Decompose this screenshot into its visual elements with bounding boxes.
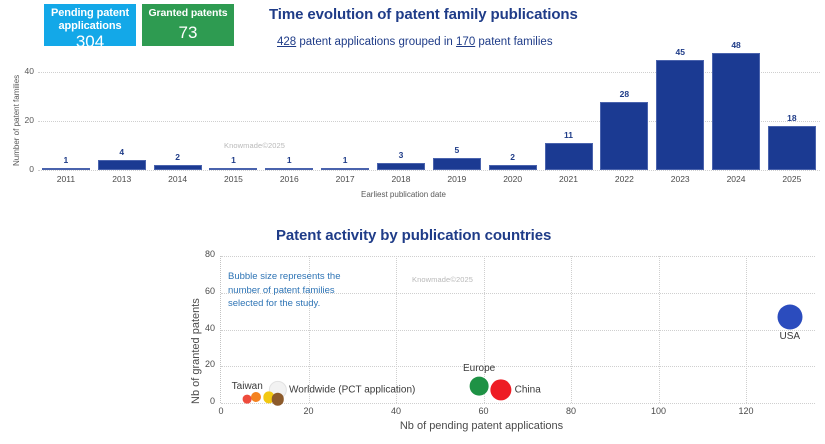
bar-column[interactable]: 12016 bbox=[265, 48, 313, 170]
bar-chart-x-axis-label: Earliest publication date bbox=[361, 190, 446, 199]
bar-x-tick-label: 2020 bbox=[489, 174, 537, 184]
bar-column[interactable]: 12015 bbox=[209, 48, 257, 170]
bar-rect[interactable] bbox=[600, 102, 648, 170]
bar-rect[interactable] bbox=[98, 160, 146, 170]
bar-chart: Number of patent families 02040 12011420… bbox=[0, 48, 825, 198]
scatter-gridline-vertical bbox=[659, 256, 660, 403]
bar-x-tick-label: 2013 bbox=[98, 174, 146, 184]
bar-rect[interactable] bbox=[433, 158, 481, 170]
bar-value-label: 2 bbox=[510, 152, 515, 162]
subtitle-mid-text: patent applications grouped in bbox=[296, 36, 456, 48]
scatter-gridline-vertical bbox=[396, 256, 397, 403]
bar-column[interactable]: 282022 bbox=[600, 48, 648, 170]
bar-x-tick-label: 2024 bbox=[712, 174, 760, 184]
dashboard-page: Pending patent applications 304 Granted … bbox=[0, 0, 825, 444]
scatter-x-axis-label: Nb of pending patent applications bbox=[400, 420, 563, 432]
scatter-bubble-label: Europe bbox=[463, 363, 495, 374]
bar-value-label: 1 bbox=[287, 155, 292, 165]
scatter-x-tick-label: 20 bbox=[303, 406, 313, 416]
bar-value-label: 5 bbox=[454, 145, 459, 155]
scatter-gridline-horizontal bbox=[221, 366, 815, 367]
scatter-y-tick-label: 20 bbox=[193, 359, 215, 369]
bar-x-tick-label: 2023 bbox=[656, 174, 704, 184]
bar-column[interactable]: 482024 bbox=[712, 48, 760, 170]
bar-x-tick-label: 2017 bbox=[321, 174, 369, 184]
bar-chart-title: Time evolution of patent family publicat… bbox=[269, 6, 578, 23]
bar-column[interactable]: 452023 bbox=[656, 48, 704, 170]
bar-rect[interactable] bbox=[712, 53, 760, 170]
bar-chart-series: 1201142013220141201512016120173201852019… bbox=[38, 48, 820, 170]
bar-rect[interactable] bbox=[154, 165, 202, 170]
watermark-bar-chart: Knowmade©2025 bbox=[224, 141, 285, 150]
bar-x-tick-label: 2016 bbox=[265, 174, 313, 184]
bar-column[interactable]: 112021 bbox=[545, 48, 593, 170]
scatter-bubble-label: USA bbox=[779, 331, 800, 342]
bar-value-label: 11 bbox=[564, 130, 573, 140]
kpi-label-pending: Pending patent applications bbox=[44, 7, 136, 32]
scatter-y-tick-label: 80 bbox=[193, 249, 215, 259]
bar-rect[interactable] bbox=[545, 143, 593, 170]
scatter-x-tick-label: 0 bbox=[218, 406, 223, 416]
bar-y-tick-label: 20 bbox=[14, 115, 34, 125]
bar-column[interactable]: 12017 bbox=[321, 48, 369, 170]
bar-value-label: 48 bbox=[731, 40, 740, 50]
bar-rect[interactable] bbox=[489, 165, 537, 170]
subtitle-applications-count: 428 bbox=[277, 36, 296, 48]
scatter-chart-title: Patent activity by publication countries bbox=[276, 227, 551, 244]
bar-x-tick-label: 2015 bbox=[209, 174, 257, 184]
bar-rect[interactable] bbox=[377, 163, 425, 170]
scatter-x-tick-label: 60 bbox=[478, 406, 488, 416]
bar-y-tick-label: 40 bbox=[14, 66, 34, 76]
bar-value-label: 3 bbox=[399, 150, 404, 160]
bar-x-tick-label: 2022 bbox=[600, 174, 648, 184]
scatter-gridline-horizontal bbox=[221, 403, 815, 404]
scatter-y-tick-label: 60 bbox=[193, 286, 215, 296]
scatter-gridline-vertical bbox=[746, 256, 747, 403]
scatter-bubble[interactable] bbox=[251, 392, 261, 402]
scatter-x-axis-label-wrap: Nb of pending patent applications bbox=[220, 420, 815, 432]
scatter-y-tick-label: 0 bbox=[193, 396, 215, 406]
scatter-x-tick-label: 40 bbox=[391, 406, 401, 416]
scatter-gridline-horizontal bbox=[221, 330, 815, 331]
bar-column[interactable]: 32018 bbox=[377, 48, 425, 170]
scatter-annotation: Bubble size represents thenumber of pate… bbox=[228, 270, 340, 311]
bar-rect[interactable] bbox=[321, 168, 369, 170]
bar-x-tick-label: 2021 bbox=[545, 174, 593, 184]
bar-chart-subtitle: 428 patent applications grouped in 170 p… bbox=[277, 36, 553, 48]
bar-value-label: 1 bbox=[343, 155, 348, 165]
bar-rect[interactable] bbox=[265, 168, 313, 170]
bar-x-tick-label: 2014 bbox=[154, 174, 202, 184]
scatter-x-tick-label: 80 bbox=[566, 406, 576, 416]
scatter-bubble[interactable] bbox=[470, 377, 489, 396]
scatter-x-tick-label: 100 bbox=[651, 406, 666, 416]
bar-x-tick-label: 2025 bbox=[768, 174, 816, 184]
bar-column[interactable]: 12011 bbox=[42, 48, 90, 170]
scatter-annotation-line: number of patent families bbox=[228, 284, 340, 298]
kpi-card-granted-patents[interactable]: Granted patents 73 bbox=[142, 4, 234, 46]
bar-x-tick-label: 2019 bbox=[433, 174, 481, 184]
bar-rect[interactable] bbox=[656, 60, 704, 170]
scatter-gridline-vertical bbox=[571, 256, 572, 403]
bar-value-label: 1 bbox=[64, 155, 69, 165]
scatter-gridline-horizontal bbox=[221, 256, 815, 257]
scatter-bubble-label: Worldwide (PCT application) bbox=[289, 385, 415, 396]
scatter-bubble-label: China bbox=[515, 385, 541, 396]
bar-column[interactable]: 182025 bbox=[768, 48, 816, 170]
bar-rect[interactable] bbox=[42, 168, 90, 170]
bar-column[interactable]: 22020 bbox=[489, 48, 537, 170]
bar-column[interactable]: 52019 bbox=[433, 48, 481, 170]
bar-column[interactable]: 42013 bbox=[98, 48, 146, 170]
scatter-y-axis-label: Nb of granted patents bbox=[190, 298, 202, 404]
scatter-annotation-line: selected for the study. bbox=[228, 297, 340, 311]
bar-value-label: 2 bbox=[175, 152, 180, 162]
watermark-scatter-chart: Knowmade©2025 bbox=[412, 275, 473, 284]
scatter-bubble-label: Taiwan bbox=[232, 381, 263, 392]
bar-gridline bbox=[38, 170, 820, 171]
bar-x-tick-label: 2018 bbox=[377, 174, 425, 184]
subtitle-families-count: 170 bbox=[456, 36, 475, 48]
bar-value-label: 28 bbox=[620, 89, 629, 99]
bar-rect[interactable] bbox=[768, 126, 816, 170]
bar-value-label: 4 bbox=[119, 147, 124, 157]
bar-value-label: 45 bbox=[675, 47, 684, 57]
subtitle-tail-text: patent families bbox=[475, 36, 552, 48]
kpi-label-granted: Granted patents bbox=[148, 7, 227, 20]
bar-value-label: 18 bbox=[787, 113, 796, 123]
kpi-card-pending-patent-applications[interactable]: Pending patent applications 304 bbox=[44, 4, 136, 46]
kpi-value-granted: 73 bbox=[179, 23, 198, 42]
bar-x-tick-label: 2011 bbox=[42, 174, 90, 184]
scatter-bubble[interactable] bbox=[490, 380, 511, 401]
bar-rect[interactable] bbox=[209, 168, 257, 170]
scatter-y-tick-label: 40 bbox=[193, 323, 215, 333]
scatter-annotation-line: Bubble size represents the bbox=[228, 270, 340, 284]
scatter-x-tick-label: 120 bbox=[738, 406, 753, 416]
bar-chart-x-axis-label-wrap: Earliest publication date bbox=[0, 190, 825, 199]
scatter-bubble[interactable] bbox=[777, 304, 802, 329]
bar-value-label: 1 bbox=[231, 155, 236, 165]
bar-column[interactable]: 22014 bbox=[154, 48, 202, 170]
bar-y-tick-label: 0 bbox=[14, 164, 34, 174]
scatter-bubble[interactable] bbox=[272, 393, 285, 406]
